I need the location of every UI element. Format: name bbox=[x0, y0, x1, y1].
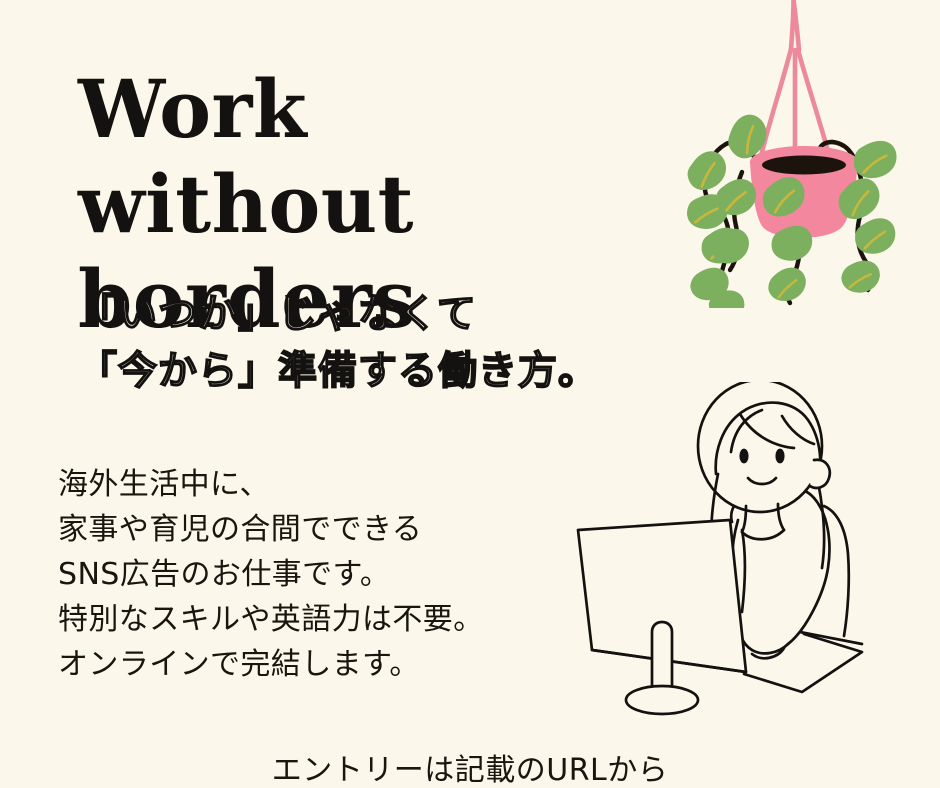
plant-leaves bbox=[683, 109, 900, 308]
computer-monitor bbox=[578, 520, 746, 714]
woman-at-computer-illustration bbox=[556, 382, 940, 726]
entry-instruction-footer: エントリーは記載のURLから bbox=[0, 745, 940, 788]
body-description: 海外生活中に、 家事や育児の合間でできる SNS広告のお仕事です。 特別なスキル… bbox=[58, 462, 578, 687]
hanging-plant-illustration bbox=[668, 0, 940, 308]
poster-canvas: Work without borders 「いつか」じゃなくて 「今から」準備す… bbox=[0, 0, 940, 788]
plant-hanger-ropes bbox=[760, 0, 831, 166]
desk-surface bbox=[744, 632, 862, 692]
subheading-outlined: 「いつか」じゃなくて 「今から」準備する働き方。 bbox=[78, 286, 698, 400]
